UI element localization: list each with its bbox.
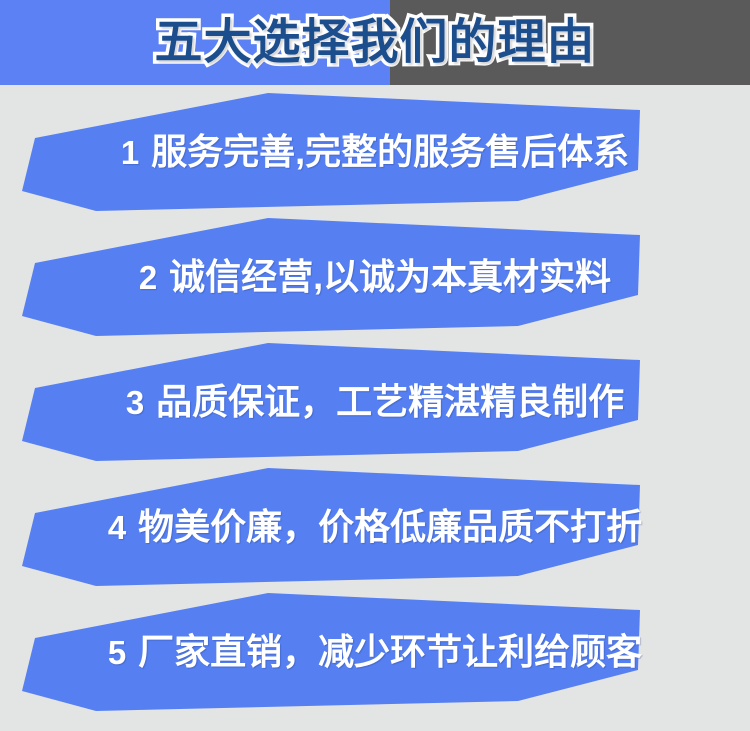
- reason-text-1: 1 服务完善,完整的服务售后体系: [0, 93, 750, 211]
- reasons-list: 1 服务完善,完整的服务售后体系 2 诚信经营,以诚为本真材实料 3 品质保证，…: [0, 85, 750, 731]
- reason-text-3: 3 品质保证，工艺精湛精良制作: [0, 343, 750, 461]
- reason-label-4: 物美价廉，价格低廉品质不打折: [138, 509, 642, 545]
- reason-banner-4[interactable]: 4 物美价廉，价格低廉品质不打折: [0, 468, 750, 586]
- reason-number-2: 2: [139, 261, 157, 294]
- reason-banner-2[interactable]: 2 诚信经营,以诚为本真材实料: [0, 218, 750, 336]
- reason-text-4: 4 物美价廉，价格低廉品质不打折: [0, 468, 750, 586]
- reason-banner-3[interactable]: 3 品质保证，工艺精湛精良制作: [0, 343, 750, 461]
- reason-number-4: 4: [108, 511, 126, 544]
- reason-banner-5[interactable]: 5 厂家直销，减少环节让利给顾客: [0, 593, 750, 711]
- reason-banner-1[interactable]: 1 服务完善,完整的服务售后体系: [0, 93, 750, 211]
- reason-label-1: 服务完善,完整的服务售后体系: [151, 134, 629, 170]
- header-banner: 五大选择我们的理由: [0, 0, 750, 85]
- reason-number-5: 5: [108, 636, 126, 669]
- reason-label-2: 诚信经营,以诚为本真材实料: [169, 259, 611, 295]
- reason-label-5: 厂家直销，减少环节让利给顾客: [138, 634, 642, 670]
- reason-label-3: 品质保证，工艺精湛精良制作: [156, 384, 624, 420]
- reason-number-1: 1: [121, 136, 139, 169]
- reason-text-5: 5 厂家直销，减少环节让利给顾客: [0, 593, 750, 711]
- reason-number-3: 3: [126, 386, 144, 419]
- reason-text-2: 2 诚信经营,以诚为本真材实料: [0, 218, 750, 336]
- page-title: 五大选择我们的理由: [0, 0, 750, 85]
